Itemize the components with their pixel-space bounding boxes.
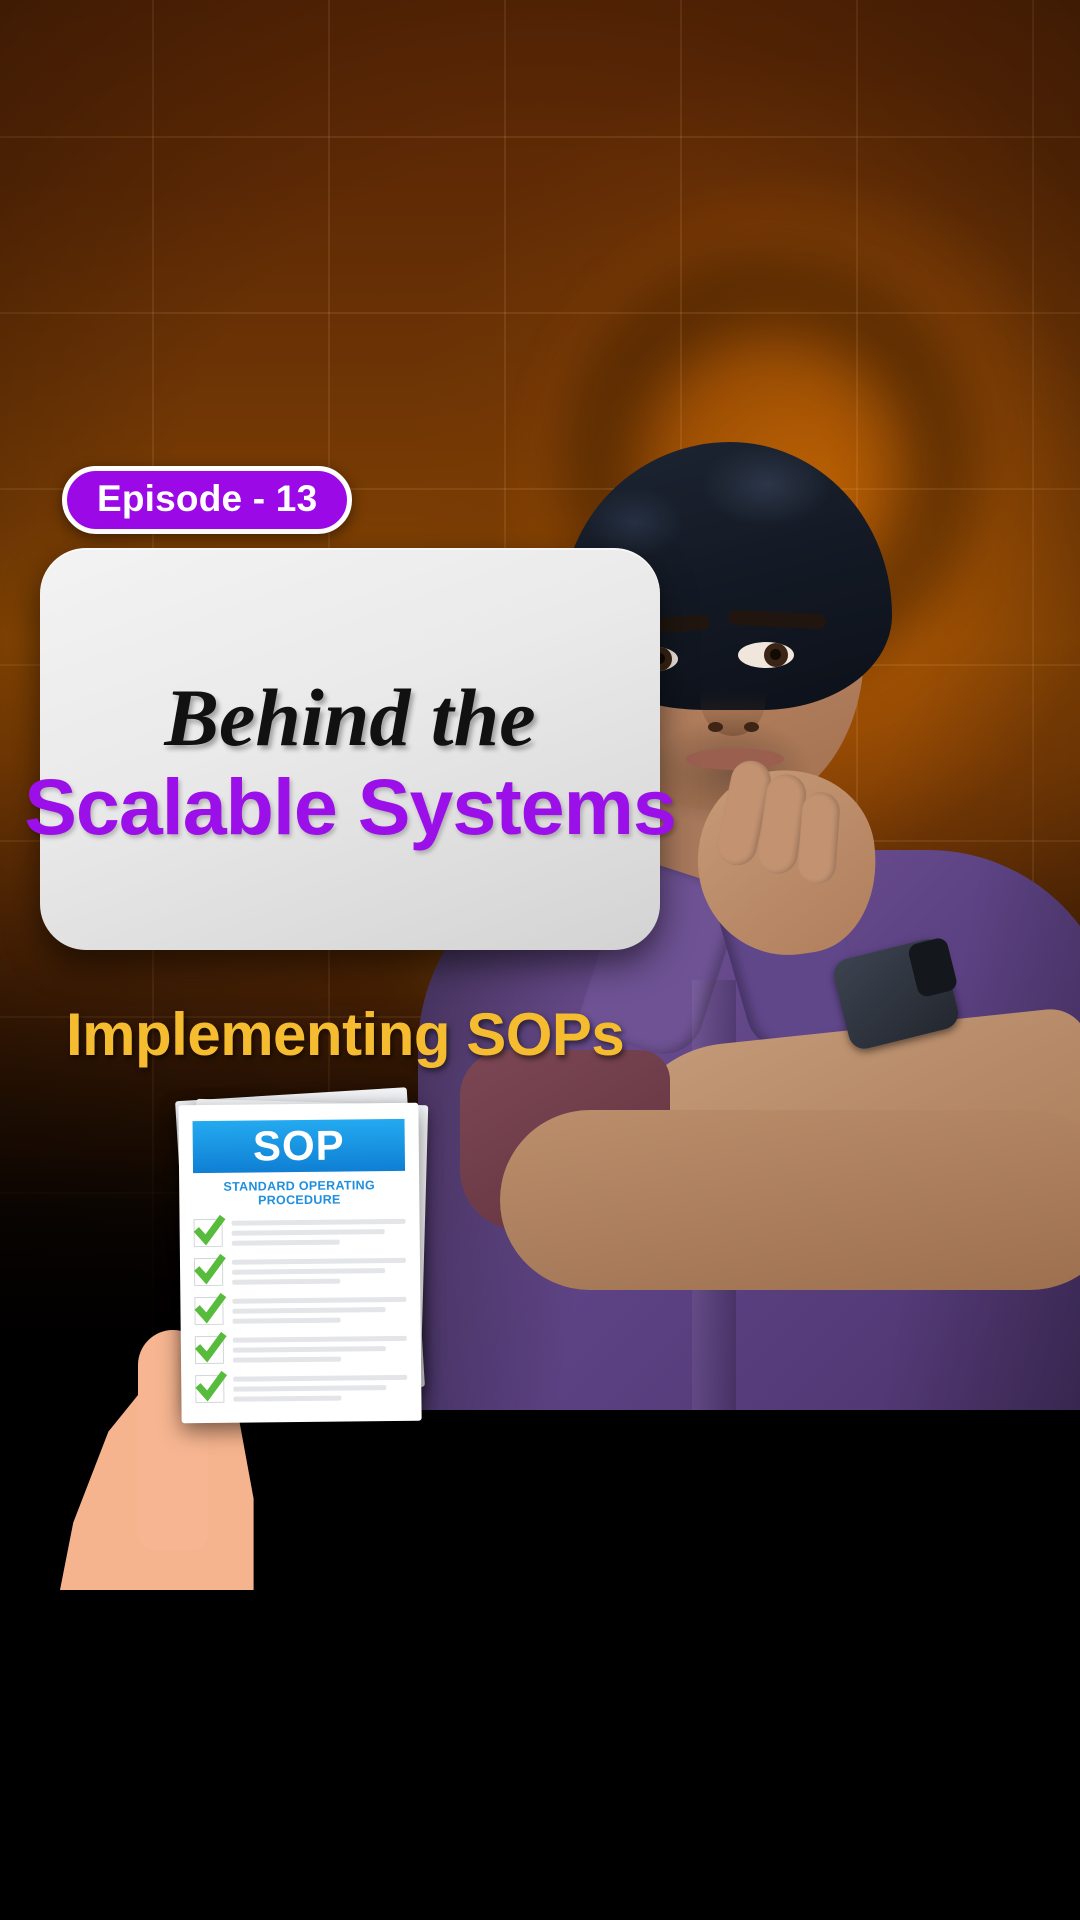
sop-text-line: [232, 1279, 340, 1285]
sop-document-sheet: SOP STANDARD OPERATING PROCEDURE: [178, 1103, 421, 1423]
checkbox-checked-icon[interactable]: [194, 1258, 223, 1286]
checkbox-checked-icon[interactable]: [194, 1297, 223, 1325]
title-card-content: Behind the Scalable Systems: [40, 548, 660, 950]
thumbnail-canvas: Episode - 13 Behind the Scalable Systems…: [0, 0, 1080, 1920]
sop-checklist-item[interactable]: [195, 1373, 407, 1403]
sop-text-line: [232, 1297, 406, 1304]
sop-checklist-item[interactable]: [194, 1256, 406, 1286]
sop-item-text-lines: [232, 1217, 406, 1246]
sop-text-line: [233, 1396, 341, 1402]
sop-text-line: [233, 1385, 386, 1392]
sop-checklist-item[interactable]: [194, 1295, 406, 1325]
sop-text-line: [232, 1258, 406, 1265]
sop-text-line: [232, 1268, 385, 1275]
checkbox-checked-icon[interactable]: [195, 1336, 224, 1364]
sop-item-text-lines: [233, 1334, 407, 1363]
sop-checklist-item[interactable]: [195, 1334, 407, 1364]
finger: [797, 791, 841, 885]
sop-banner-title: SOP: [193, 1119, 406, 1173]
sop-text-line: [232, 1229, 385, 1236]
sop-document-subtitle: STANDARD OPERATING PROCEDURE: [193, 1178, 405, 1208]
resting-arm: [500, 1110, 1080, 1290]
sop-text-line: [233, 1375, 407, 1382]
sop-item-text-lines: [232, 1256, 406, 1285]
sop-item-text-lines: [233, 1373, 407, 1402]
checkbox-checked-icon[interactable]: [194, 1219, 223, 1247]
sop-text-line: [232, 1307, 385, 1314]
title-line-secondary: Scalable Systems: [24, 766, 676, 848]
episode-badge[interactable]: Episode - 13: [62, 466, 352, 534]
title-line-primary: Behind the: [164, 676, 535, 760]
sop-text-line: [233, 1357, 341, 1363]
title-card: Behind the Scalable Systems: [40, 548, 660, 950]
sop-text-line: [233, 1318, 341, 1324]
nostril: [744, 722, 759, 732]
checkbox-checked-icon[interactable]: [195, 1375, 224, 1403]
sop-item-text-lines: [232, 1295, 406, 1324]
sop-checklist-item[interactable]: [194, 1217, 406, 1247]
sop-checklist: [194, 1217, 408, 1403]
sop-illustration: SOP STANDARD OPERATING PROCEDURE: [60, 1080, 460, 1530]
sop-text-line: [233, 1346, 386, 1353]
episode-subtitle: Implementing SOPs: [66, 1000, 624, 1069]
nostril: [708, 722, 723, 732]
sop-text-line: [232, 1219, 406, 1226]
sop-text-line: [233, 1336, 407, 1343]
sop-text-line: [232, 1240, 340, 1246]
